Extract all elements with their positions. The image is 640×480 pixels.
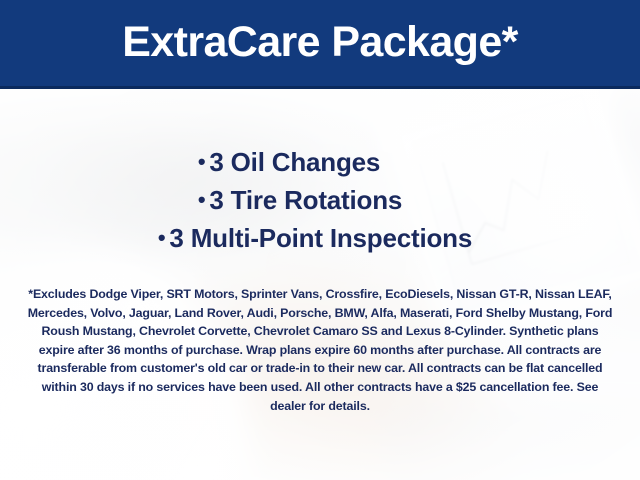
bullet-icon: • [158, 225, 166, 250]
bullet-icon: • [198, 149, 206, 174]
list-item: •3 Multi-Point Inspections [0, 219, 640, 257]
extracare-package-ad: ExtraCare Package* •3 Oil Changes •3 Tir… [0, 0, 640, 480]
bullet-icon: • [198, 187, 206, 212]
list-item: •3 Oil Changes [0, 143, 640, 181]
page-title: ExtraCare Package* [122, 21, 518, 66]
header-banner: ExtraCare Package* [0, 0, 640, 89]
benefit-label: 3 Oil Changes [209, 147, 380, 177]
benefit-label: 3 Multi-Point Inspections [169, 223, 472, 253]
benefits-list: •3 Oil Changes •3 Tire Rotations •3 Mult… [0, 143, 640, 257]
ad-content: •3 Oil Changes •3 Tire Rotations •3 Mult… [0, 89, 640, 480]
benefit-label: 3 Tire Rotations [209, 185, 402, 215]
list-item: •3 Tire Rotations [0, 181, 640, 219]
disclaimer-text: *Excludes Dodge Viper, SRT Motors, Sprin… [24, 285, 616, 415]
